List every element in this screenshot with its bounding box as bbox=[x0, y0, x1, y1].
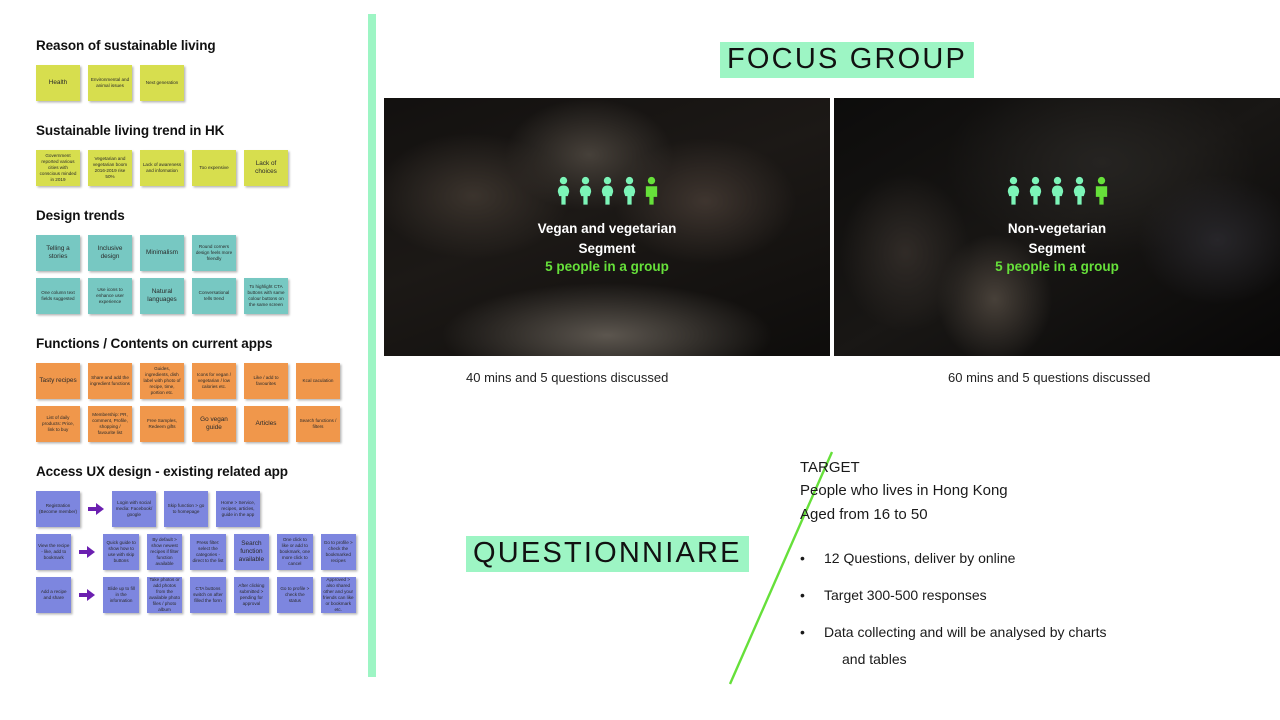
research-section: Functions / Contents on current appsTast… bbox=[36, 336, 356, 442]
section-title: Design trends bbox=[36, 208, 356, 223]
sticky-note[interactable]: To highlight CTA buttons with same colou… bbox=[244, 278, 288, 314]
section-title: Access UX design - existing related app bbox=[36, 464, 356, 479]
sticky-note-row: Registration (Become member)Login with s… bbox=[36, 491, 356, 527]
sticky-note[interactable]: Like / add to favourites bbox=[244, 363, 288, 399]
sticky-note[interactable]: Go to profile > check the bookmarked rec… bbox=[321, 534, 356, 570]
focus-group-title: FOCUS GROUP bbox=[720, 42, 974, 78]
target-bullet: •12 Questions, deliver by online bbox=[800, 548, 1200, 569]
sticky-note[interactable]: Search function available bbox=[234, 534, 269, 570]
research-section: Design trendsTelling a storiesInclusive … bbox=[36, 208, 356, 314]
slide-canvas: Reason of sustainable livingHealthEnviro… bbox=[0, 0, 1280, 720]
sticky-note-row: Tasty recipesShare and add the ingredien… bbox=[36, 363, 356, 399]
research-notes-column: Reason of sustainable livingHealthEnviro… bbox=[36, 38, 356, 635]
questionnaire-title: QUESTIONNIARE bbox=[466, 536, 749, 572]
sticky-note[interactable]: By default > show newest recipes if filt… bbox=[147, 534, 182, 570]
bullet-dot-icon: • bbox=[800, 622, 806, 643]
segment-count-a: 5 people in a group bbox=[384, 259, 830, 274]
section-title: Functions / Contents on current apps bbox=[36, 336, 356, 351]
target-heading: TARGET bbox=[800, 456, 1200, 479]
target-bullet-text: Data collecting and will be analysed by … bbox=[824, 622, 1107, 643]
sticky-note[interactable]: Search functions / filters bbox=[296, 406, 340, 442]
people-icon-group-a bbox=[384, 176, 830, 205]
sticky-note[interactable]: Skip function > go to homepage bbox=[164, 491, 208, 527]
person-male-icon bbox=[643, 176, 660, 205]
arrow-right-icon bbox=[88, 501, 104, 517]
sticky-note[interactable]: View the recipe - like, add to bookmark bbox=[36, 534, 71, 570]
person-female-icon bbox=[555, 176, 572, 205]
person-female-icon bbox=[1027, 176, 1044, 205]
sticky-note-row: One column text fields suggestedUse icon… bbox=[36, 278, 356, 314]
bullet-dot-icon: • bbox=[800, 548, 806, 569]
research-section: Reason of sustainable livingHealthEnviro… bbox=[36, 38, 356, 101]
sticky-note-row: Telling a storiesInclusive designMinimal… bbox=[36, 235, 356, 271]
section-title: Sustainable living trend in HK bbox=[36, 123, 356, 138]
sticky-note[interactable]: Take photos or add photos from the avail… bbox=[147, 577, 182, 613]
sticky-note[interactable]: Minimalism bbox=[140, 235, 184, 271]
target-bullet-text: Target 300-500 responses bbox=[824, 585, 987, 606]
focus-group-heading: FOCUS GROUP bbox=[720, 42, 974, 78]
sticky-note[interactable]: Natural languages bbox=[140, 278, 184, 314]
research-section: Access UX design - existing related appR… bbox=[36, 464, 356, 613]
sticky-note[interactable]: Registration (Become member) bbox=[36, 491, 80, 527]
photo-overlay-a: Vegan and vegetarian Segment 5 people in… bbox=[384, 176, 830, 274]
sticky-note-row: Add a recipe and shareSlide up to fill i… bbox=[36, 577, 356, 613]
sticky-note[interactable]: After clicking submitted > pending for a… bbox=[234, 577, 269, 613]
target-bullet-text: 12 Questions, deliver by online bbox=[824, 548, 1015, 569]
segment-count-b: 5 people in a group bbox=[834, 259, 1280, 274]
sticky-note[interactable]: Health bbox=[36, 65, 80, 101]
sticky-note[interactable]: List of daily products: Price, link to b… bbox=[36, 406, 80, 442]
photo-vegan-segment: Vegan and vegetarian Segment 5 people in… bbox=[384, 98, 830, 356]
sticky-note[interactable]: CTA buttons switch on after filled the f… bbox=[190, 577, 225, 613]
sticky-note[interactable]: Round corners design feels more friendly bbox=[192, 235, 236, 271]
presentation-column: FOCUS GROUP Vegan and vegetarian Segment… bbox=[384, 0, 1280, 720]
sticky-note[interactable]: Icons for vegan / vegetarian / low calor… bbox=[192, 363, 236, 399]
target-bullet: •Target 300-500 responses bbox=[800, 585, 1200, 606]
sticky-note[interactable]: Too expensive bbox=[192, 150, 236, 186]
target-line-2: Aged from 16 to 50 bbox=[800, 503, 1200, 526]
sticky-note[interactable]: Go vegan guide bbox=[192, 406, 236, 442]
person-female-icon bbox=[1049, 176, 1066, 205]
segment-label-a-line2: Segment bbox=[384, 239, 830, 259]
photo-nonvegetarian-segment: Non-vegetarian Segment 5 people in a gro… bbox=[834, 98, 1280, 356]
sticky-note[interactable]: Vegetarian and vegetarian boom 2016-2019… bbox=[88, 150, 132, 186]
person-male-icon bbox=[1093, 176, 1110, 205]
sticky-note[interactable]: Conversational tells trend bbox=[192, 278, 236, 314]
people-icon-group-b bbox=[834, 176, 1280, 205]
person-female-icon bbox=[599, 176, 616, 205]
sticky-note[interactable]: Guides, ingredients, dish label with pho… bbox=[140, 363, 184, 399]
section-title: Reason of sustainable living bbox=[36, 38, 356, 53]
person-female-icon bbox=[621, 176, 638, 205]
sticky-note[interactable]: Articles bbox=[244, 406, 288, 442]
arrow-right-icon bbox=[79, 544, 95, 560]
sticky-note[interactable]: One click to like or add to bookmark, on… bbox=[277, 534, 312, 570]
person-female-icon bbox=[1005, 176, 1022, 205]
sticky-note[interactable]: Lack of choices bbox=[244, 150, 288, 186]
sticky-note[interactable]: Share and add the ingredient functions bbox=[88, 363, 132, 399]
sticky-note[interactable]: Add a recipe and share bbox=[36, 577, 71, 613]
segment-label-b-line1: Non-vegetarian bbox=[834, 219, 1280, 239]
sticky-note[interactable]: Membership: PR, comment, Profile, shoppi… bbox=[88, 406, 132, 442]
sticky-note[interactable]: Use icons to enhance user experience bbox=[88, 278, 132, 314]
sticky-note[interactable]: Next generation bbox=[140, 65, 184, 101]
sticky-note[interactable]: Quick guide to show how to use with skip… bbox=[103, 534, 138, 570]
sticky-note-row: HealthEnvironmental and animal issuesNex… bbox=[36, 65, 356, 101]
sticky-note[interactable]: Lack of awareness and information bbox=[140, 150, 184, 186]
sticky-note[interactable]: Home > Service, recipes, articles, guide… bbox=[216, 491, 260, 527]
target-bullet: •Data collecting and will be analysed by… bbox=[800, 622, 1200, 643]
sticky-note-row: Government reported various cities with … bbox=[36, 150, 356, 186]
person-female-icon bbox=[1071, 176, 1088, 205]
sticky-note-row: View the recipe - like, add to bookmarkQ… bbox=[36, 534, 356, 570]
sticky-note[interactable]: Kcal caculation bbox=[296, 363, 340, 399]
target-bullet-list: •12 Questions, deliver by online•Target … bbox=[800, 548, 1200, 643]
sticky-note[interactable]: Free Samples, Redeem gifts bbox=[140, 406, 184, 442]
target-line-1: People who lives in Hong Kong bbox=[800, 479, 1200, 502]
focus-group-photos: Vegan and vegetarian Segment 5 people in… bbox=[384, 98, 1280, 356]
sticky-note[interactable]: Go to profile > check the status bbox=[277, 577, 312, 613]
photo-overlay-b: Non-vegetarian Segment 5 people in a gro… bbox=[834, 176, 1280, 274]
sticky-note-row: List of daily products: Price, link to b… bbox=[36, 406, 356, 442]
vertical-mint-divider bbox=[368, 14, 376, 677]
segment-label-a-line1: Vegan and vegetarian bbox=[384, 219, 830, 239]
questionnaire-heading: QUESTIONNIARE bbox=[466, 536, 749, 572]
caption-nonvegetarian: 60 mins and 5 questions discussed bbox=[948, 370, 1150, 385]
sticky-note[interactable]: Telling a stories bbox=[36, 235, 80, 271]
research-section: Sustainable living trend in HKGovernment… bbox=[36, 123, 356, 186]
sticky-note[interactable]: Inclusive design bbox=[88, 235, 132, 271]
sticky-note[interactable]: Government reported various cities with … bbox=[36, 150, 80, 186]
sticky-note[interactable]: One column text fields suggested bbox=[36, 278, 80, 314]
bullet-continuation: and tables bbox=[800, 651, 1200, 667]
target-block: TARGET People who lives in Hong Kong Age… bbox=[800, 456, 1200, 667]
sticky-note[interactable]: Environmental and animal issues bbox=[88, 65, 132, 101]
caption-vegan: 40 mins and 5 questions discussed bbox=[466, 370, 668, 385]
bullet-dot-icon: • bbox=[800, 585, 806, 606]
segment-label-b-line2: Segment bbox=[834, 239, 1280, 259]
arrow-right-icon bbox=[79, 587, 95, 603]
sticky-note[interactable]: Login with social media: Facebook/ googl… bbox=[112, 491, 156, 527]
sticky-note[interactable]: Tasty recipes bbox=[36, 363, 80, 399]
sticky-note[interactable]: Approved > also shared other and your fr… bbox=[321, 577, 356, 613]
sticky-note[interactable]: Slide up to fill in the information bbox=[103, 577, 138, 613]
person-female-icon bbox=[577, 176, 594, 205]
sticky-note[interactable]: Press filter: select the categories - di… bbox=[190, 534, 225, 570]
